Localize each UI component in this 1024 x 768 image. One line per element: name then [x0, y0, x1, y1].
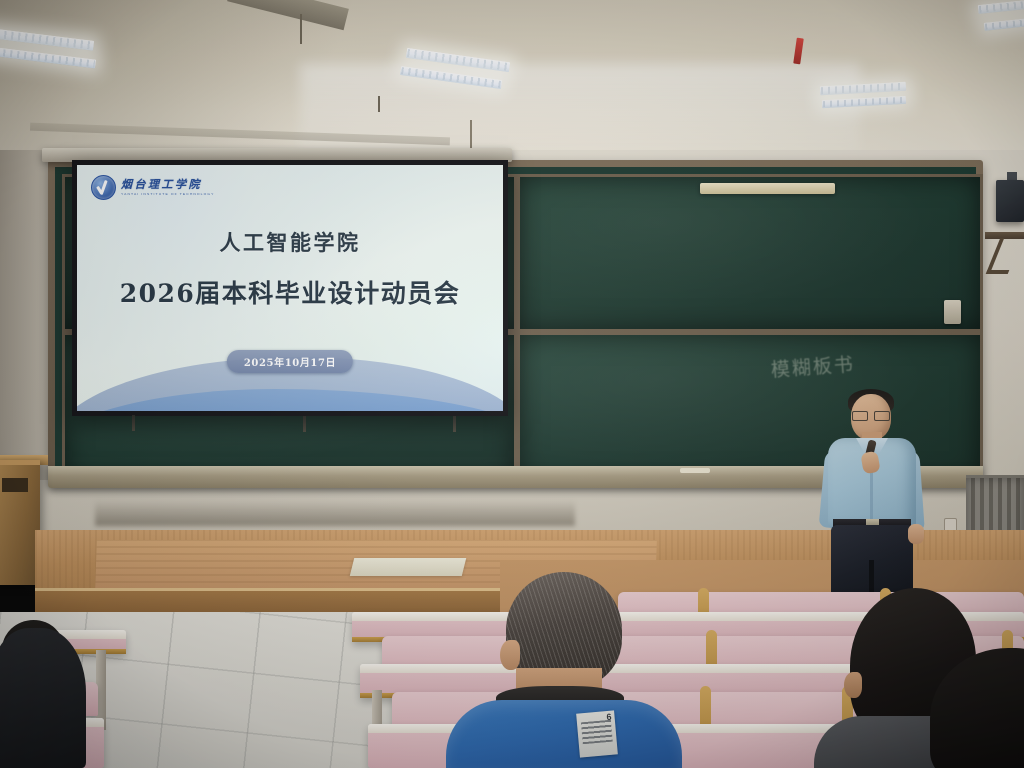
ceiling-hanger-2: [378, 96, 380, 112]
chalk-stick: [680, 468, 710, 473]
presenter-right-hand: [908, 524, 924, 544]
audience-center-jacket: [446, 700, 682, 768]
logo-english-name: YANTAI INSTITUTE OF TECHNOLOGY: [121, 193, 214, 196]
presentation-slide: 烟台理工学院 YANTAI INSTITUTE OF TECHNOLOGY 人工…: [77, 165, 503, 411]
ceiling-hanger-1: [300, 14, 302, 44]
audience-center-ear: [500, 640, 520, 670]
slide-title-line-1: 人工智能学院: [77, 227, 503, 257]
classroom-photo: 模糊板书 烟台理工学院 YANTAI INSTITUTE OF TECHNOLO…: [0, 0, 1024, 768]
ceiling-lamp-8: [984, 17, 1024, 31]
screen-hook-2: [303, 416, 306, 432]
audience-left-body: [0, 628, 86, 768]
university-logo: 烟台理工学院 YANTAI INSTITUTE OF TECHNOLOGY: [91, 175, 214, 200]
slide-date-badge: 2025年10月17日: [227, 350, 353, 373]
wall-stain: [95, 500, 575, 526]
chalk-corner-mark: [928, 218, 968, 230]
garment-tag: 6: [576, 710, 618, 757]
logo-chinese-name: 烟台理工学院: [121, 179, 214, 190]
blackboard-panel-top-right: [517, 174, 983, 332]
screen-hook-1: [132, 415, 135, 431]
ceiling-lamp-7: [978, 0, 1024, 14]
screen-hook-3: [453, 416, 456, 432]
audience-right-near-ear: [844, 672, 862, 698]
blackboard-eraser: [944, 300, 961, 324]
red-ribbon-marker: [793, 38, 804, 65]
slide-title-line-2: 2026届本科毕业设计动员会: [77, 274, 503, 310]
shield-check-emblem-icon: [91, 175, 116, 200]
garment-tag-text-lines: [581, 720, 613, 745]
ceiling: [0, 0, 1024, 172]
logo-text-block: 烟台理工学院 YANTAI INSTITUTE OF TECHNOLOGY: [121, 179, 214, 196]
paper-on-floor: [350, 558, 466, 576]
glasses-icon: [852, 411, 890, 419]
blackboard-light-strip: [700, 183, 835, 194]
slide-title-block: 人工智能学院 2026届本科毕业设计动员会: [77, 227, 503, 310]
cabinet-opening: [2, 478, 28, 492]
wall-speaker: [996, 180, 1024, 222]
projector-screen: 烟台理工学院 YANTAI INSTITUTE OF TECHNOLOGY 人工…: [72, 160, 508, 416]
chalk-writing: 模糊板书: [770, 349, 864, 389]
